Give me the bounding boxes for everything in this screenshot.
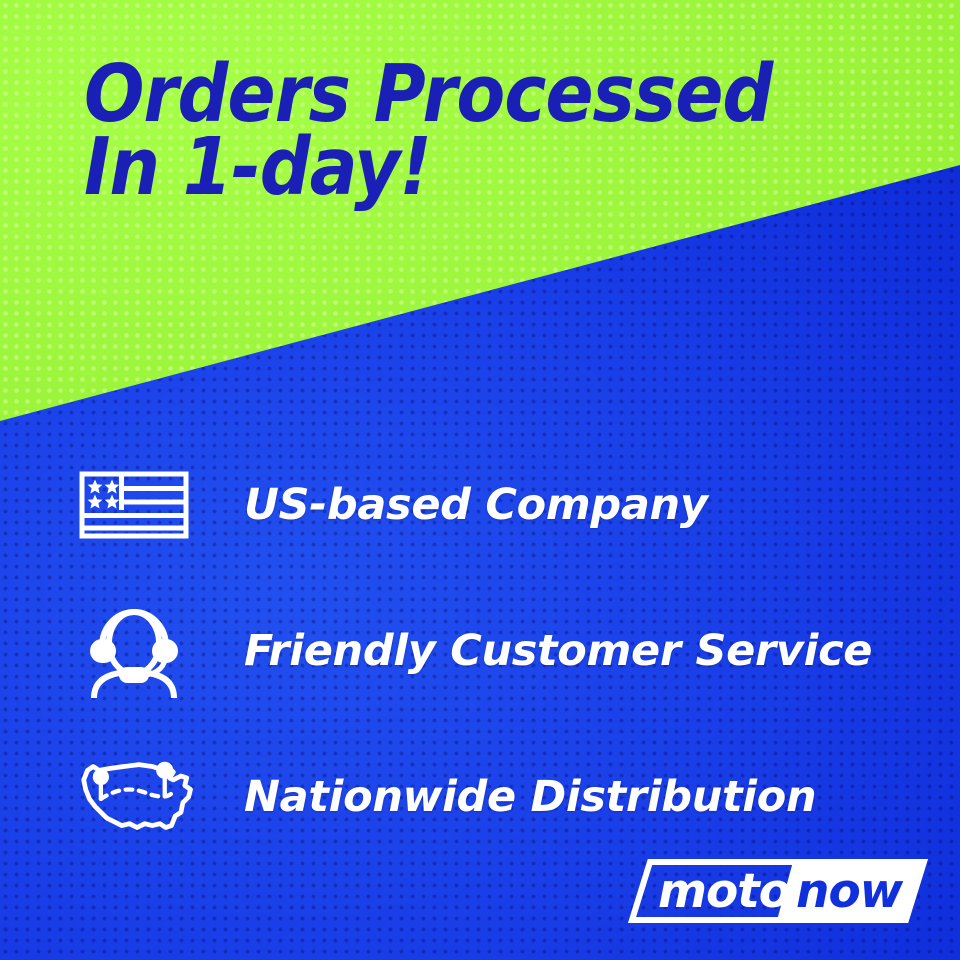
feature-label-us-based: US-based Company — [244, 480, 708, 530]
feature-row-us-based: US-based Company — [0, 432, 960, 578]
feature-label-nationwide: Nationwide Distribution — [244, 772, 816, 822]
headline-line-2: In 1-day! — [84, 131, 924, 204]
us-map-distribution-icon — [78, 751, 200, 843]
us-flag-icon — [78, 459, 200, 551]
logo-text-moto: moto — [658, 864, 790, 919]
feature-row-customer-service: Friendly Customer Service — [0, 578, 960, 724]
feature-row-nationwide: Nationwide Distribution — [0, 724, 960, 870]
motonow-logo[interactable]: moto now — [628, 858, 928, 924]
feature-label-customer-service: Friendly Customer Service — [244, 626, 872, 676]
logo-text-now: now — [796, 864, 904, 919]
feature-list: US-based Company — [0, 432, 960, 870]
headline: Orders Processed In 1-day! — [84, 58, 924, 203]
promo-poster: Orders Processed In 1-day! — [0, 0, 960, 960]
headline-line-1: Orders Processed — [84, 58, 924, 131]
headset-support-agent-icon — [78, 605, 200, 697]
